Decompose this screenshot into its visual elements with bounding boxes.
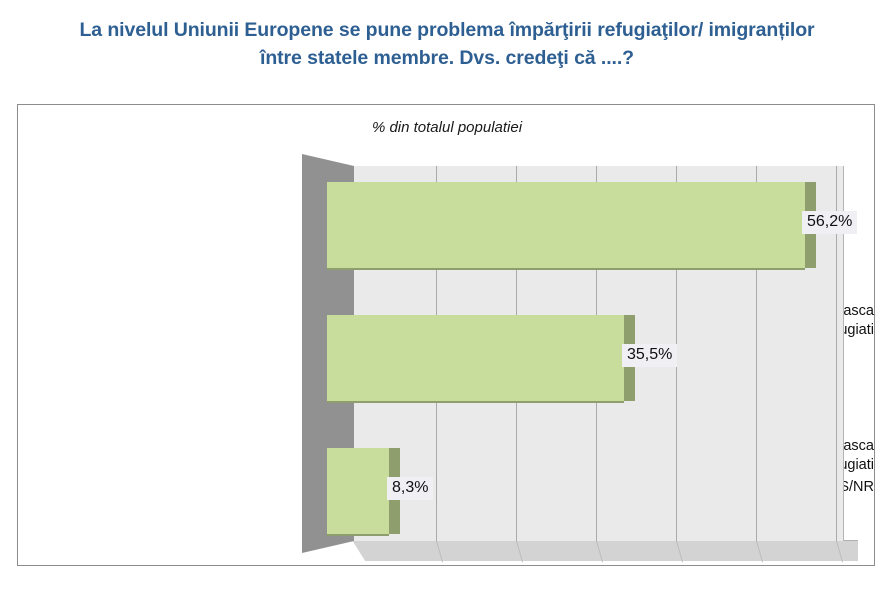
bar-2-bottom-shadow: [327, 534, 389, 536]
bar-0-value-label: 56,2%: [802, 211, 857, 234]
page-title-line-1: La nivelul Uniunii Europene se pune prob…: [0, 16, 894, 44]
page-title: La nivelul Uniunii Europene se pune prob…: [0, 0, 894, 72]
bar-0-bottom-shadow: [327, 268, 805, 270]
plot-floor: [352, 540, 858, 561]
bar-2[interactable]: [327, 448, 389, 534]
plot-area: 56,2% 35,5% 8,3%: [302, 154, 858, 561]
bar-0[interactable]: [327, 182, 805, 268]
bar-1-bottom-shadow: [327, 401, 624, 403]
bar-1[interactable]: [327, 315, 624, 401]
bar-2-value-label: 8,3%: [387, 477, 433, 500]
page-title-line-2: între statele membre. Dvs. credeţi că ..…: [0, 44, 894, 72]
chart-container: % din totalul populatiei Romania nu ar t…: [17, 104, 875, 566]
bar-1-value-label: 35,5%: [622, 344, 677, 367]
chart-subtitle: % din totalul populatiei: [18, 119, 876, 136]
